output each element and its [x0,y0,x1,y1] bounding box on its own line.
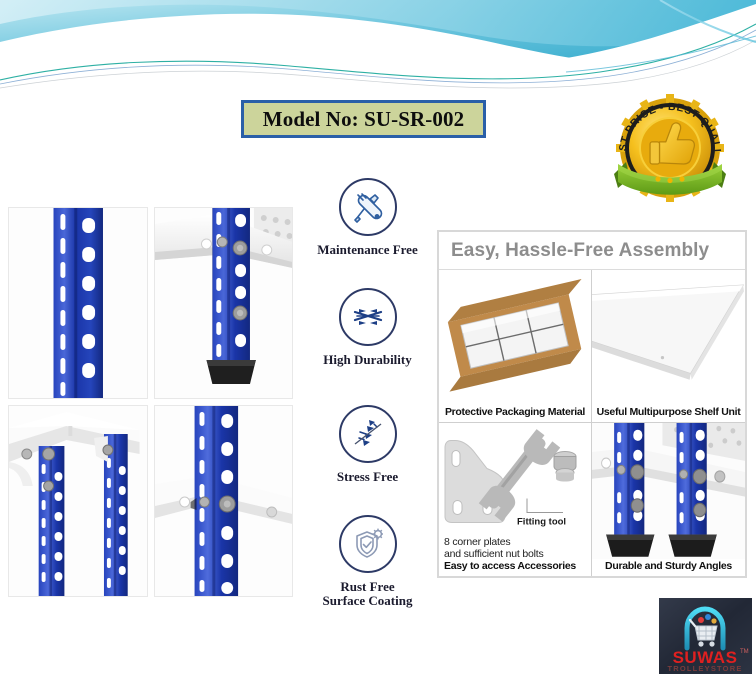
feature-label: High Durability [300,353,435,367]
caption-text: Protective Packaging Material [442,406,588,418]
logo-trademark-text: TM [740,649,749,655]
caption-text: Useful Multipurpose Shelf Unit [595,406,742,418]
quadrant-caption: 8 corner plates and sufficient nut bolts… [439,536,591,576]
feature-label-line-2: Surface Coating [300,594,435,608]
feature-stress-free: Stress Free [300,405,435,484]
product-photo-grid [8,207,293,597]
product-photo-blue-slotted-angle-post [8,207,148,399]
quadrant-caption: Useful Multipurpose Shelf Unit [592,405,745,422]
model-number-text: Model No: SU-SR-002 [263,107,464,132]
assembly-panel: Easy, Hassle-Free Assembly [437,230,747,578]
caption-text: Durable and Sturdy Angles [595,560,742,572]
feature-rust-free-surface-coating: Rust Free Surface Coating [300,515,435,608]
feature-high-durability: High Durability [300,288,435,367]
crossed-tools-icon [339,178,397,236]
corner-plate-wrench-nutbolt-icon: Fitting tool [439,423,591,536]
assembly-quadrant-accessories: Fitting tool 8 corner plates and suffici… [439,423,592,576]
product-photo-shelf-bolt-joint-with-foot [154,207,294,399]
feature-label-multiline: Rust Free Surface Coating [300,580,435,608]
assembly-quadrant-shelf-unit: Useful Multipurpose Shelf Unit [592,270,745,423]
product-photo-corner-frame-joint [8,405,148,597]
brand-logo: SUWAS TROLLEYSTORE TM [659,598,752,674]
assembly-quadrant-grid: Protective Packaging Material Us [439,270,745,576]
best-price-best-quality-badge: BEST PRICE - BEST QUALITY [600,78,740,218]
assembly-panel-title: Easy, Hassle-Free Assembly [439,232,745,270]
quadrant-caption: Protective Packaging Material [439,405,591,422]
blue-angle-legs-icon [592,423,745,559]
quadrant-caption: Durable and Sturdy Angles [592,559,745,576]
shield-check-icon [339,515,397,573]
product-marketing-image: Model No: SU-SR-002 [0,0,756,677]
caption-sub-line-1: 8 corner plates [444,537,588,549]
feature-label: Stress Free [300,470,435,484]
feature-label-line-1: Rust Free [300,580,435,594]
woven-strands-icon [339,288,397,346]
caption-sub-line-2: and sufficient nut bolts [444,549,588,561]
product-photo-shelf-panel-bolt-detail [154,405,294,597]
white-shelf-panel-icon [592,270,745,405]
no-stress-icon [339,405,397,463]
feature-maintenance-free: Maintenance Free [300,178,435,257]
caption-text: Easy to access Accessories [444,560,588,572]
assembly-title-text: Easy, Hassle-Free Assembly [451,240,709,262]
assembly-quadrant-packaging: Protective Packaging Material [439,270,592,423]
fitting-tool-label: Fitting tool [517,517,566,528]
feature-label: Maintenance Free [300,243,435,257]
model-number-banner: Model No: SU-SR-002 [241,100,486,138]
logo-tagline-text: TROLLEYSTORE [667,664,742,673]
assembly-quadrant-angles: Durable and Sturdy Angles [592,423,745,576]
cardboard-carton-with-panels-icon [439,270,591,405]
feature-list: Maintenance Free [300,178,435,598]
